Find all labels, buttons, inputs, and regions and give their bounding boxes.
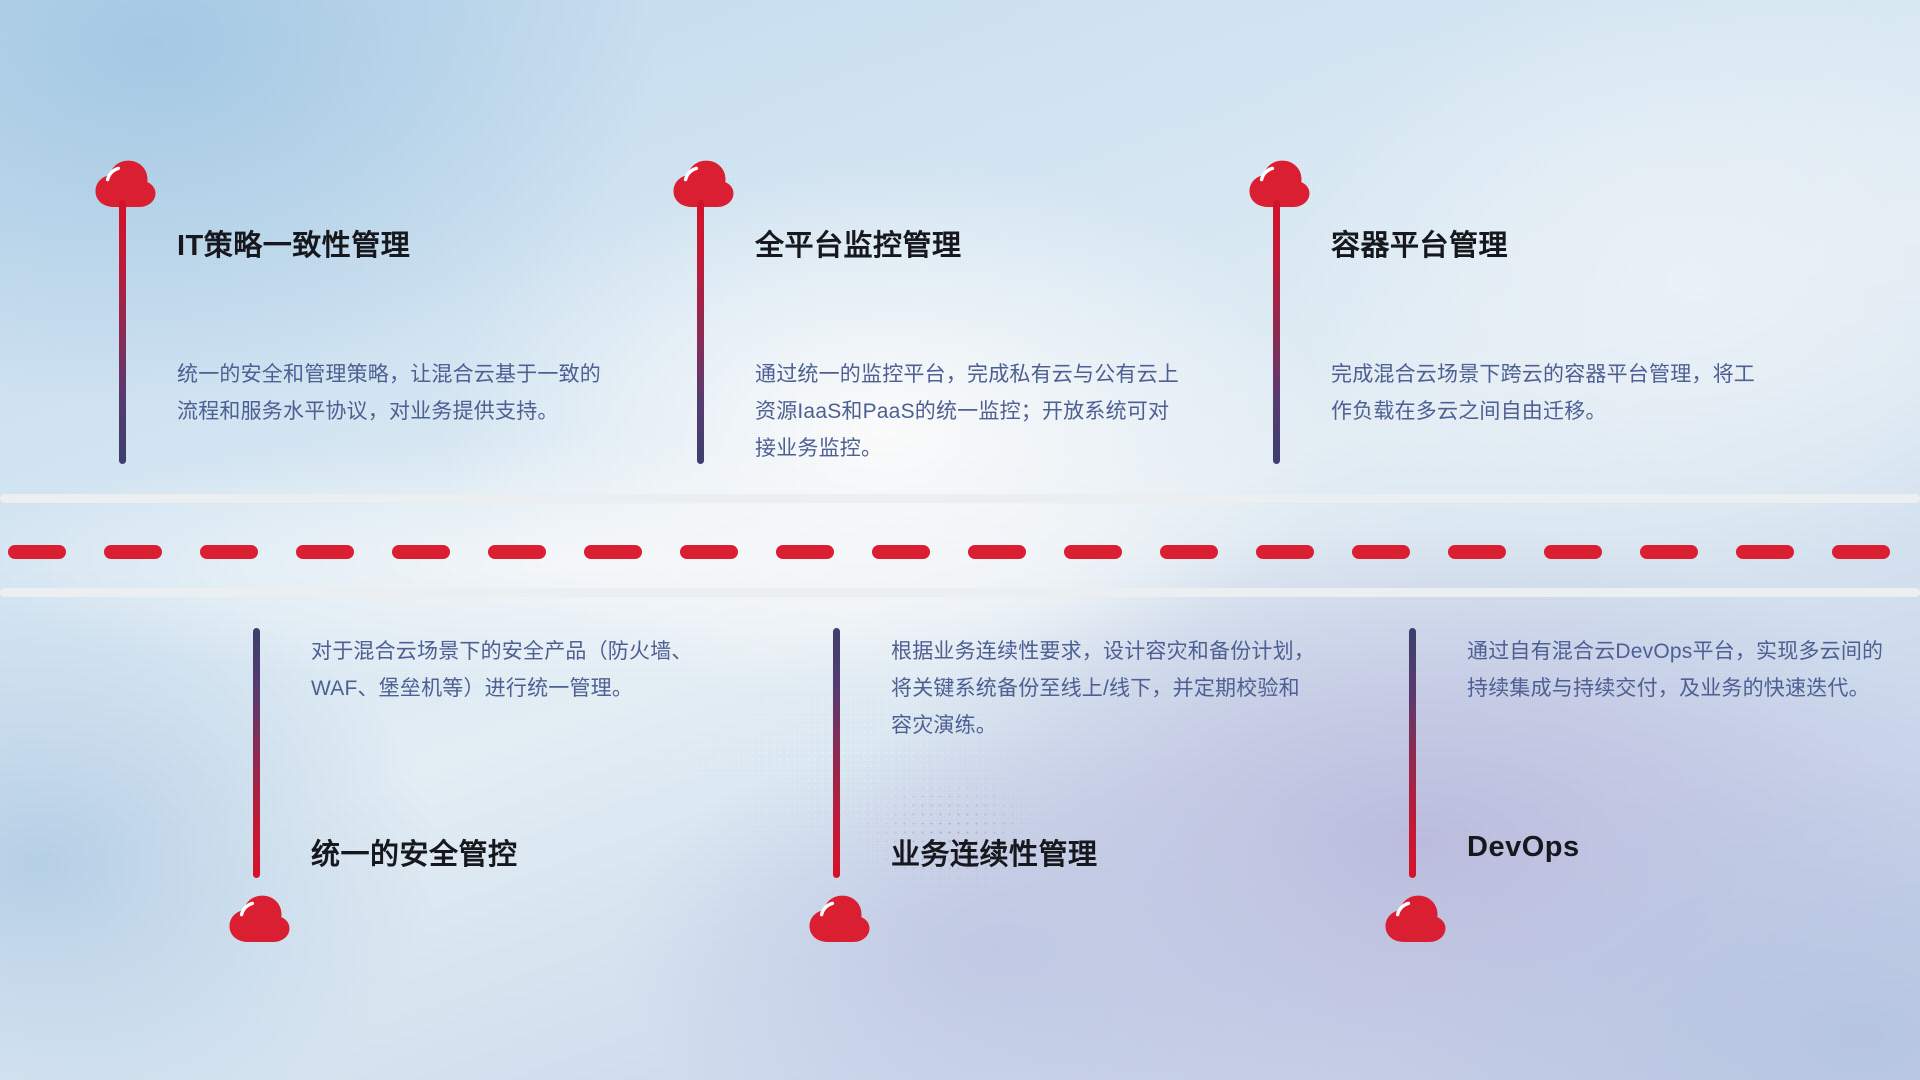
- divider-dash: [1544, 545, 1602, 559]
- item-title: 容器平台管理: [1331, 222, 1508, 264]
- cloud-icon: [808, 895, 870, 943]
- divider-dash: [776, 545, 834, 559]
- item-title: 统一的安全管控: [311, 831, 518, 873]
- cloud-icon: [1384, 895, 1446, 943]
- timeline-stem: [253, 628, 260, 878]
- divider-dash: [1736, 545, 1794, 559]
- divider-dash: [584, 545, 642, 559]
- divider-line-bottom: [0, 588, 1920, 597]
- divider-dash: [8, 545, 66, 559]
- diagram-stage: IT策略一致性管理 统一的安全和管理策略，让混合云基于一致的流程和服务水平协议，…: [0, 0, 1920, 1080]
- divider-dash: [1448, 545, 1506, 559]
- item-description: 通过自有混合云DevOps平台，实现多云间的持续集成与持续交付，及业务的快速迭代…: [1467, 633, 1897, 707]
- divider-dash: [392, 545, 450, 559]
- cloud-icon: [228, 895, 290, 943]
- item-title: IT策略一致性管理: [177, 222, 410, 264]
- divider-dash: [296, 545, 354, 559]
- divider-dash: [1256, 545, 1314, 559]
- item-title: DevOps: [1467, 831, 1580, 864]
- timeline-stem: [1273, 200, 1280, 464]
- timeline-stem: [119, 200, 126, 464]
- divider-dash: [1640, 545, 1698, 559]
- divider-dash: [968, 545, 1026, 559]
- divider-dash: [1832, 545, 1890, 559]
- divider-dash: [680, 545, 738, 559]
- divider-dash: [488, 545, 546, 559]
- divider-dash: [200, 545, 258, 559]
- divider-line-top: [0, 494, 1920, 503]
- divider-dash: [872, 545, 930, 559]
- item-description: 根据业务连续性要求，设计容灾和备份计划，将关键系统备份至线上/线下，并定期校验和…: [891, 633, 1321, 744]
- item-description: 对于混合云场景下的安全产品（防火墙、WAF、堡垒机等）进行统一管理。: [311, 633, 741, 707]
- divider-dash: [104, 545, 162, 559]
- divider-dashed-line: [0, 545, 1920, 559]
- item-title: 业务连续性管理: [891, 831, 1098, 873]
- item-description: 统一的安全和管理策略，让混合云基于一致的流程和服务水平协议，对业务提供支持。: [177, 356, 607, 430]
- item-description: 完成混合云场景下跨云的容器平台管理，将工作负载在多云之间自由迁移。: [1331, 356, 1761, 430]
- item-title: 全平台监控管理: [755, 222, 962, 264]
- divider-dash: [1352, 545, 1410, 559]
- divider-dash: [1064, 545, 1122, 559]
- timeline-stem: [697, 200, 704, 464]
- timeline-stem: [833, 628, 840, 878]
- divider-dash: [1160, 545, 1218, 559]
- timeline-stem: [1409, 628, 1416, 878]
- item-description: 通过统一的监控平台，完成私有云与公有云上资源IaaS和PaaS的统一监控；开放系…: [755, 356, 1185, 467]
